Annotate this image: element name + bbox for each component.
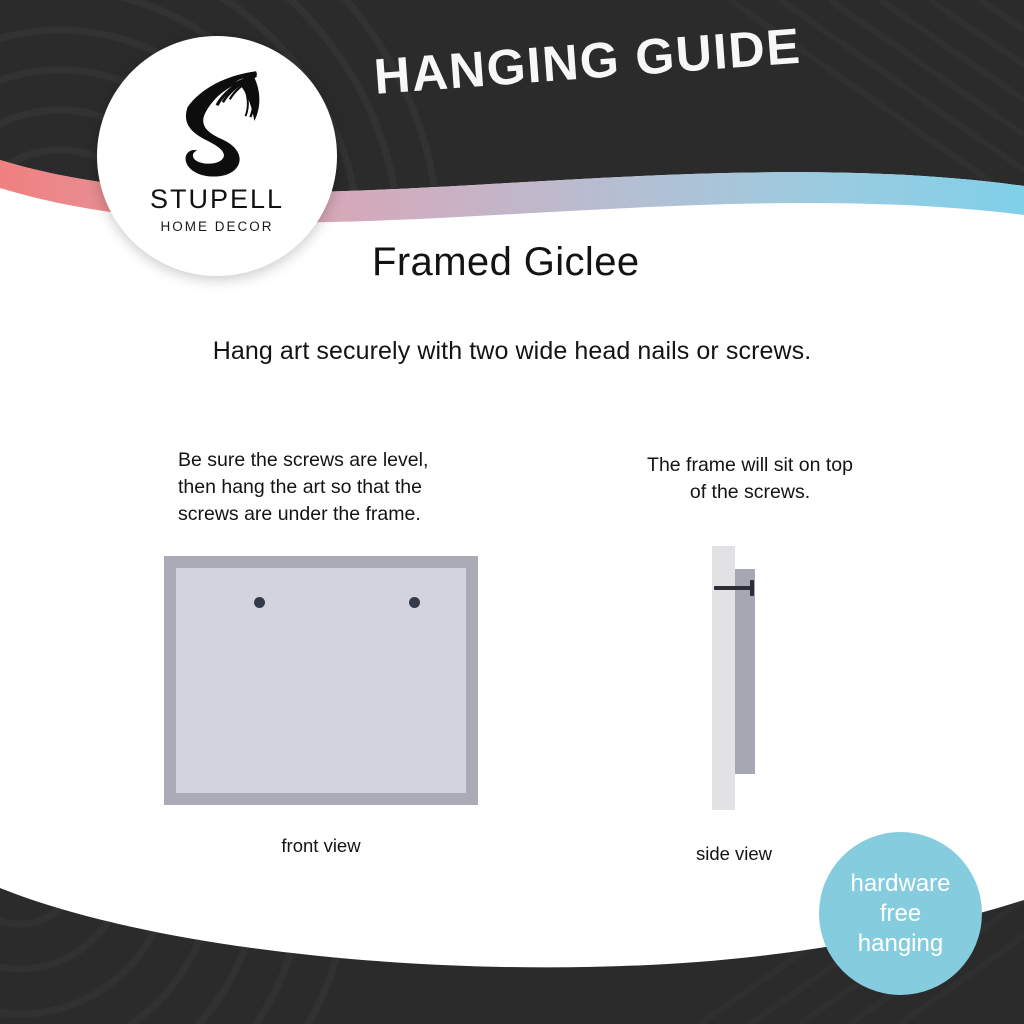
hanging-guide-page: HANGING GUIDE Framed Giclee STUPELL HOME… (0, 0, 1024, 1024)
nail-icon (714, 586, 753, 590)
front-caption-line-3: screws are under the frame. (178, 501, 478, 528)
front-caption-line-2: then hang the art so that the (178, 474, 478, 501)
side-view-frame (735, 569, 755, 774)
badge-line-3: hanging (858, 929, 943, 959)
front-view-diagram (164, 556, 478, 805)
side-caption-line-1: The frame will sit on top (600, 452, 900, 479)
front-view-caption: Be sure the screws are level, then hang … (178, 447, 478, 528)
hardware-free-badge: hardware free hanging (819, 832, 982, 995)
logo-name: STUPELL (150, 184, 284, 215)
badge-line-2: free (880, 899, 921, 929)
front-view-label: front view (180, 835, 462, 857)
lead-instruction: Hang art securely with two wide head nai… (0, 337, 1024, 366)
nail-head-icon (750, 580, 754, 596)
screw-dot-right (409, 597, 420, 608)
screw-dot-left (254, 597, 265, 608)
side-view-caption: The frame will sit on top of the screws. (600, 452, 900, 506)
product-title: Framed Giclee (372, 240, 640, 285)
logo-subtitle: HOME DECOR (160, 219, 273, 234)
side-caption-line-2: of the screws. (600, 479, 900, 506)
side-view-diagram (705, 546, 771, 810)
side-view-label: side view (634, 843, 834, 865)
brand-logo: STUPELL HOME DECOR (97, 36, 337, 276)
stupell-swoosh-icon (158, 62, 276, 180)
front-view-artwork-panel (176, 568, 466, 793)
badge-line-1: hardware (850, 869, 950, 899)
front-caption-line-1: Be sure the screws are level, (178, 447, 478, 474)
